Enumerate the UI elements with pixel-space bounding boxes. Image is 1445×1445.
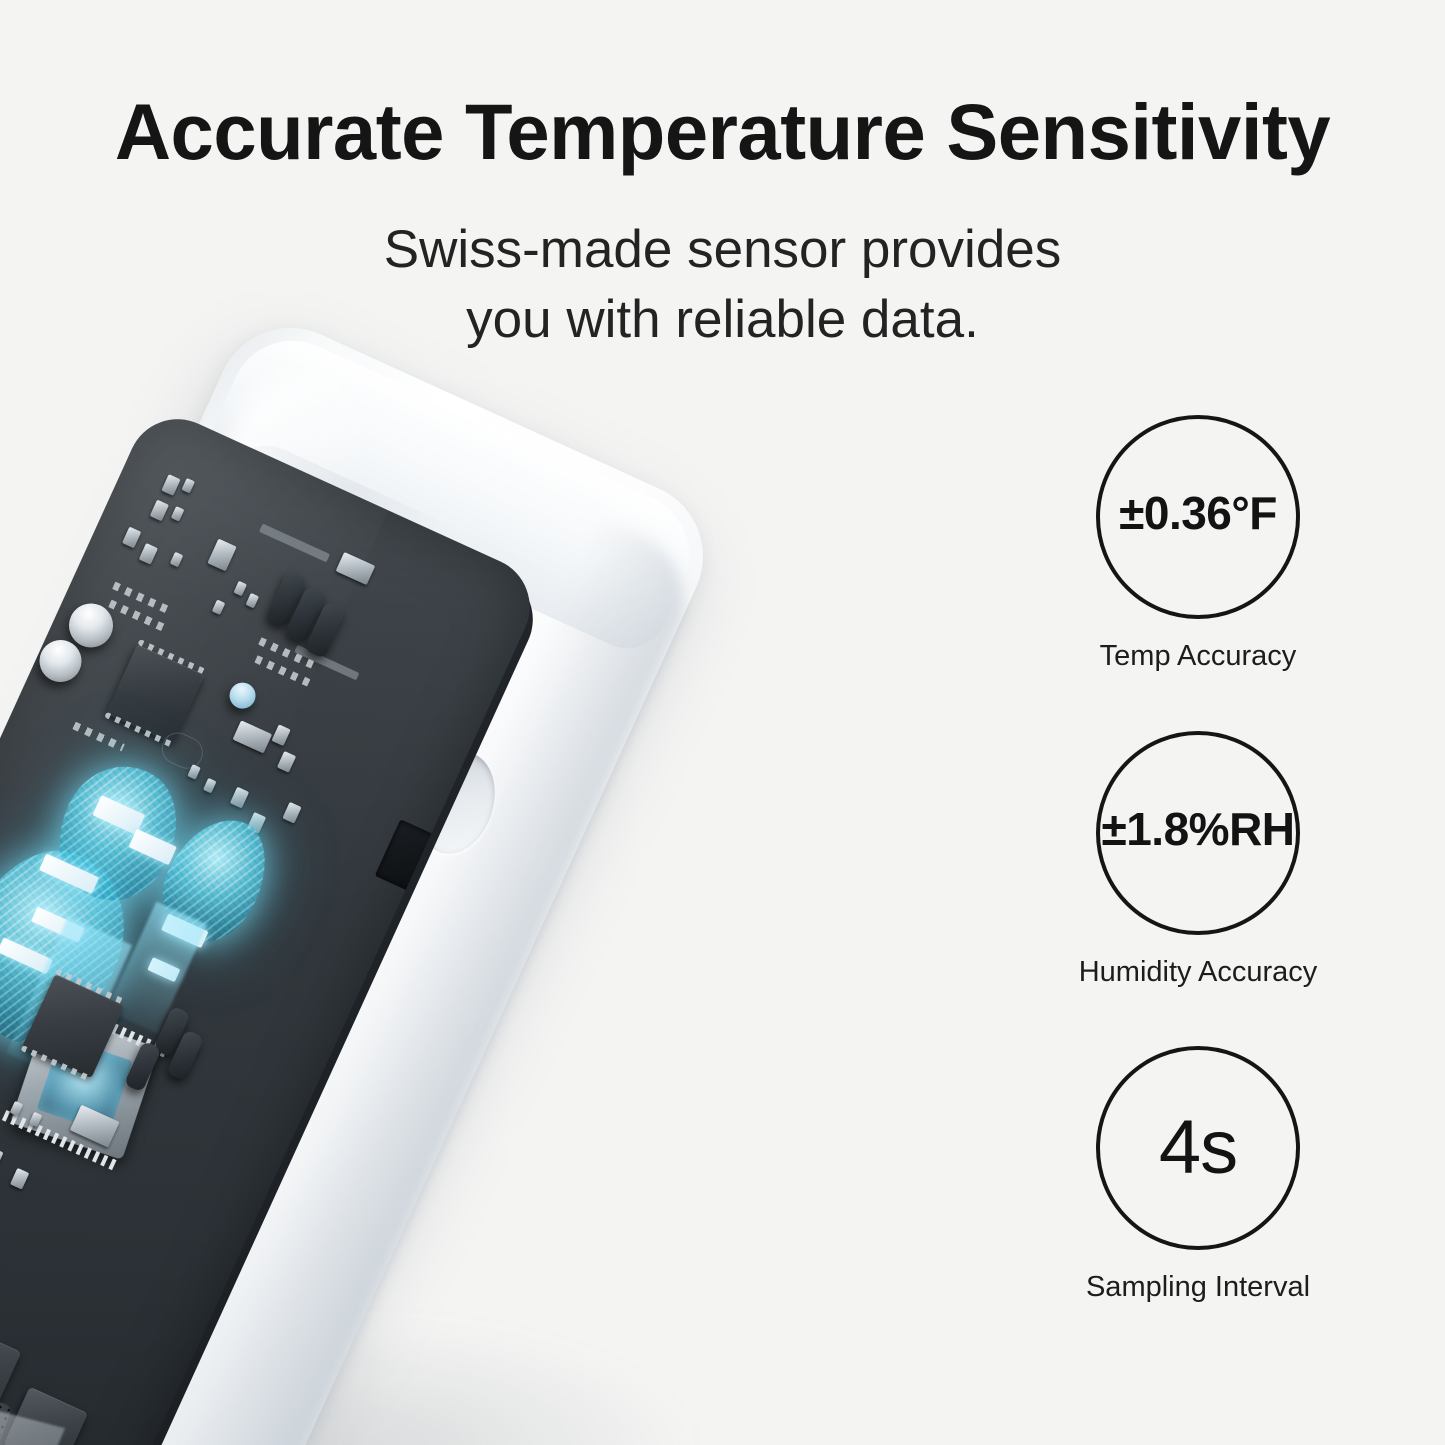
- sensor-hologram: [0, 701, 321, 1216]
- spec-value-temp-accuracy: ±0.36°F: [1119, 490, 1277, 536]
- smd-component: [170, 552, 184, 568]
- led: [225, 678, 259, 712]
- subtitle-line-2: you with reliable data.: [0, 285, 1445, 355]
- smd-component: [336, 552, 376, 585]
- infographic-page: Accurate Temperature Sensitivity Swiss-m…: [0, 0, 1445, 1445]
- spec-sampling-interval: 4s Sampling Interval: [1048, 1046, 1348, 1304]
- smd-component: [246, 593, 260, 609]
- spec-humidity-accuracy: ±1.8%RH Humidity Accuracy: [1048, 731, 1348, 989]
- smd-component: [161, 474, 180, 496]
- spec-value-humidity-accuracy: ±1.8%RH: [1101, 806, 1294, 852]
- smd-component: [122, 527, 141, 549]
- smd-component: [232, 720, 272, 753]
- product-image: [0, 330, 1060, 1445]
- page-subtitle: Swiss-made sensor provides you with reli…: [0, 215, 1445, 355]
- smd-component: [150, 500, 169, 522]
- spec-label-sampling-interval: Sampling Interval: [1048, 1272, 1348, 1304]
- spec-circle-sampling-interval: 4s: [1096, 1046, 1300, 1250]
- smd-component: [181, 478, 195, 494]
- smd-component: [139, 543, 158, 565]
- ic-chip: [106, 644, 205, 744]
- silkscreen-mark: [259, 523, 330, 562]
- spec-label-humidity-accuracy: Humidity Accuracy: [1048, 957, 1348, 989]
- spec-circle-humidity-accuracy: ±1.8%RH: [1096, 731, 1300, 935]
- spec-circle-temp-accuracy: ±0.36°F: [1096, 415, 1300, 619]
- smd-component: [171, 506, 185, 522]
- spec-temp-accuracy: ±0.36°F Temp Accuracy: [1048, 415, 1348, 673]
- smd-component: [233, 581, 247, 597]
- spec-label-temp-accuracy: Temp Accuracy: [1048, 641, 1348, 673]
- subtitle-line-1: Swiss-made sensor provides: [0, 215, 1445, 285]
- smd-component: [277, 751, 296, 773]
- page-title: Accurate Temperature Sensitivity: [11, 92, 1434, 171]
- smd-component: [212, 599, 226, 615]
- spec-value-sampling-interval: 4s: [1159, 1110, 1237, 1186]
- smd-component: [10, 1168, 29, 1190]
- smd-component: [271, 724, 290, 746]
- smd-component: [207, 539, 236, 572]
